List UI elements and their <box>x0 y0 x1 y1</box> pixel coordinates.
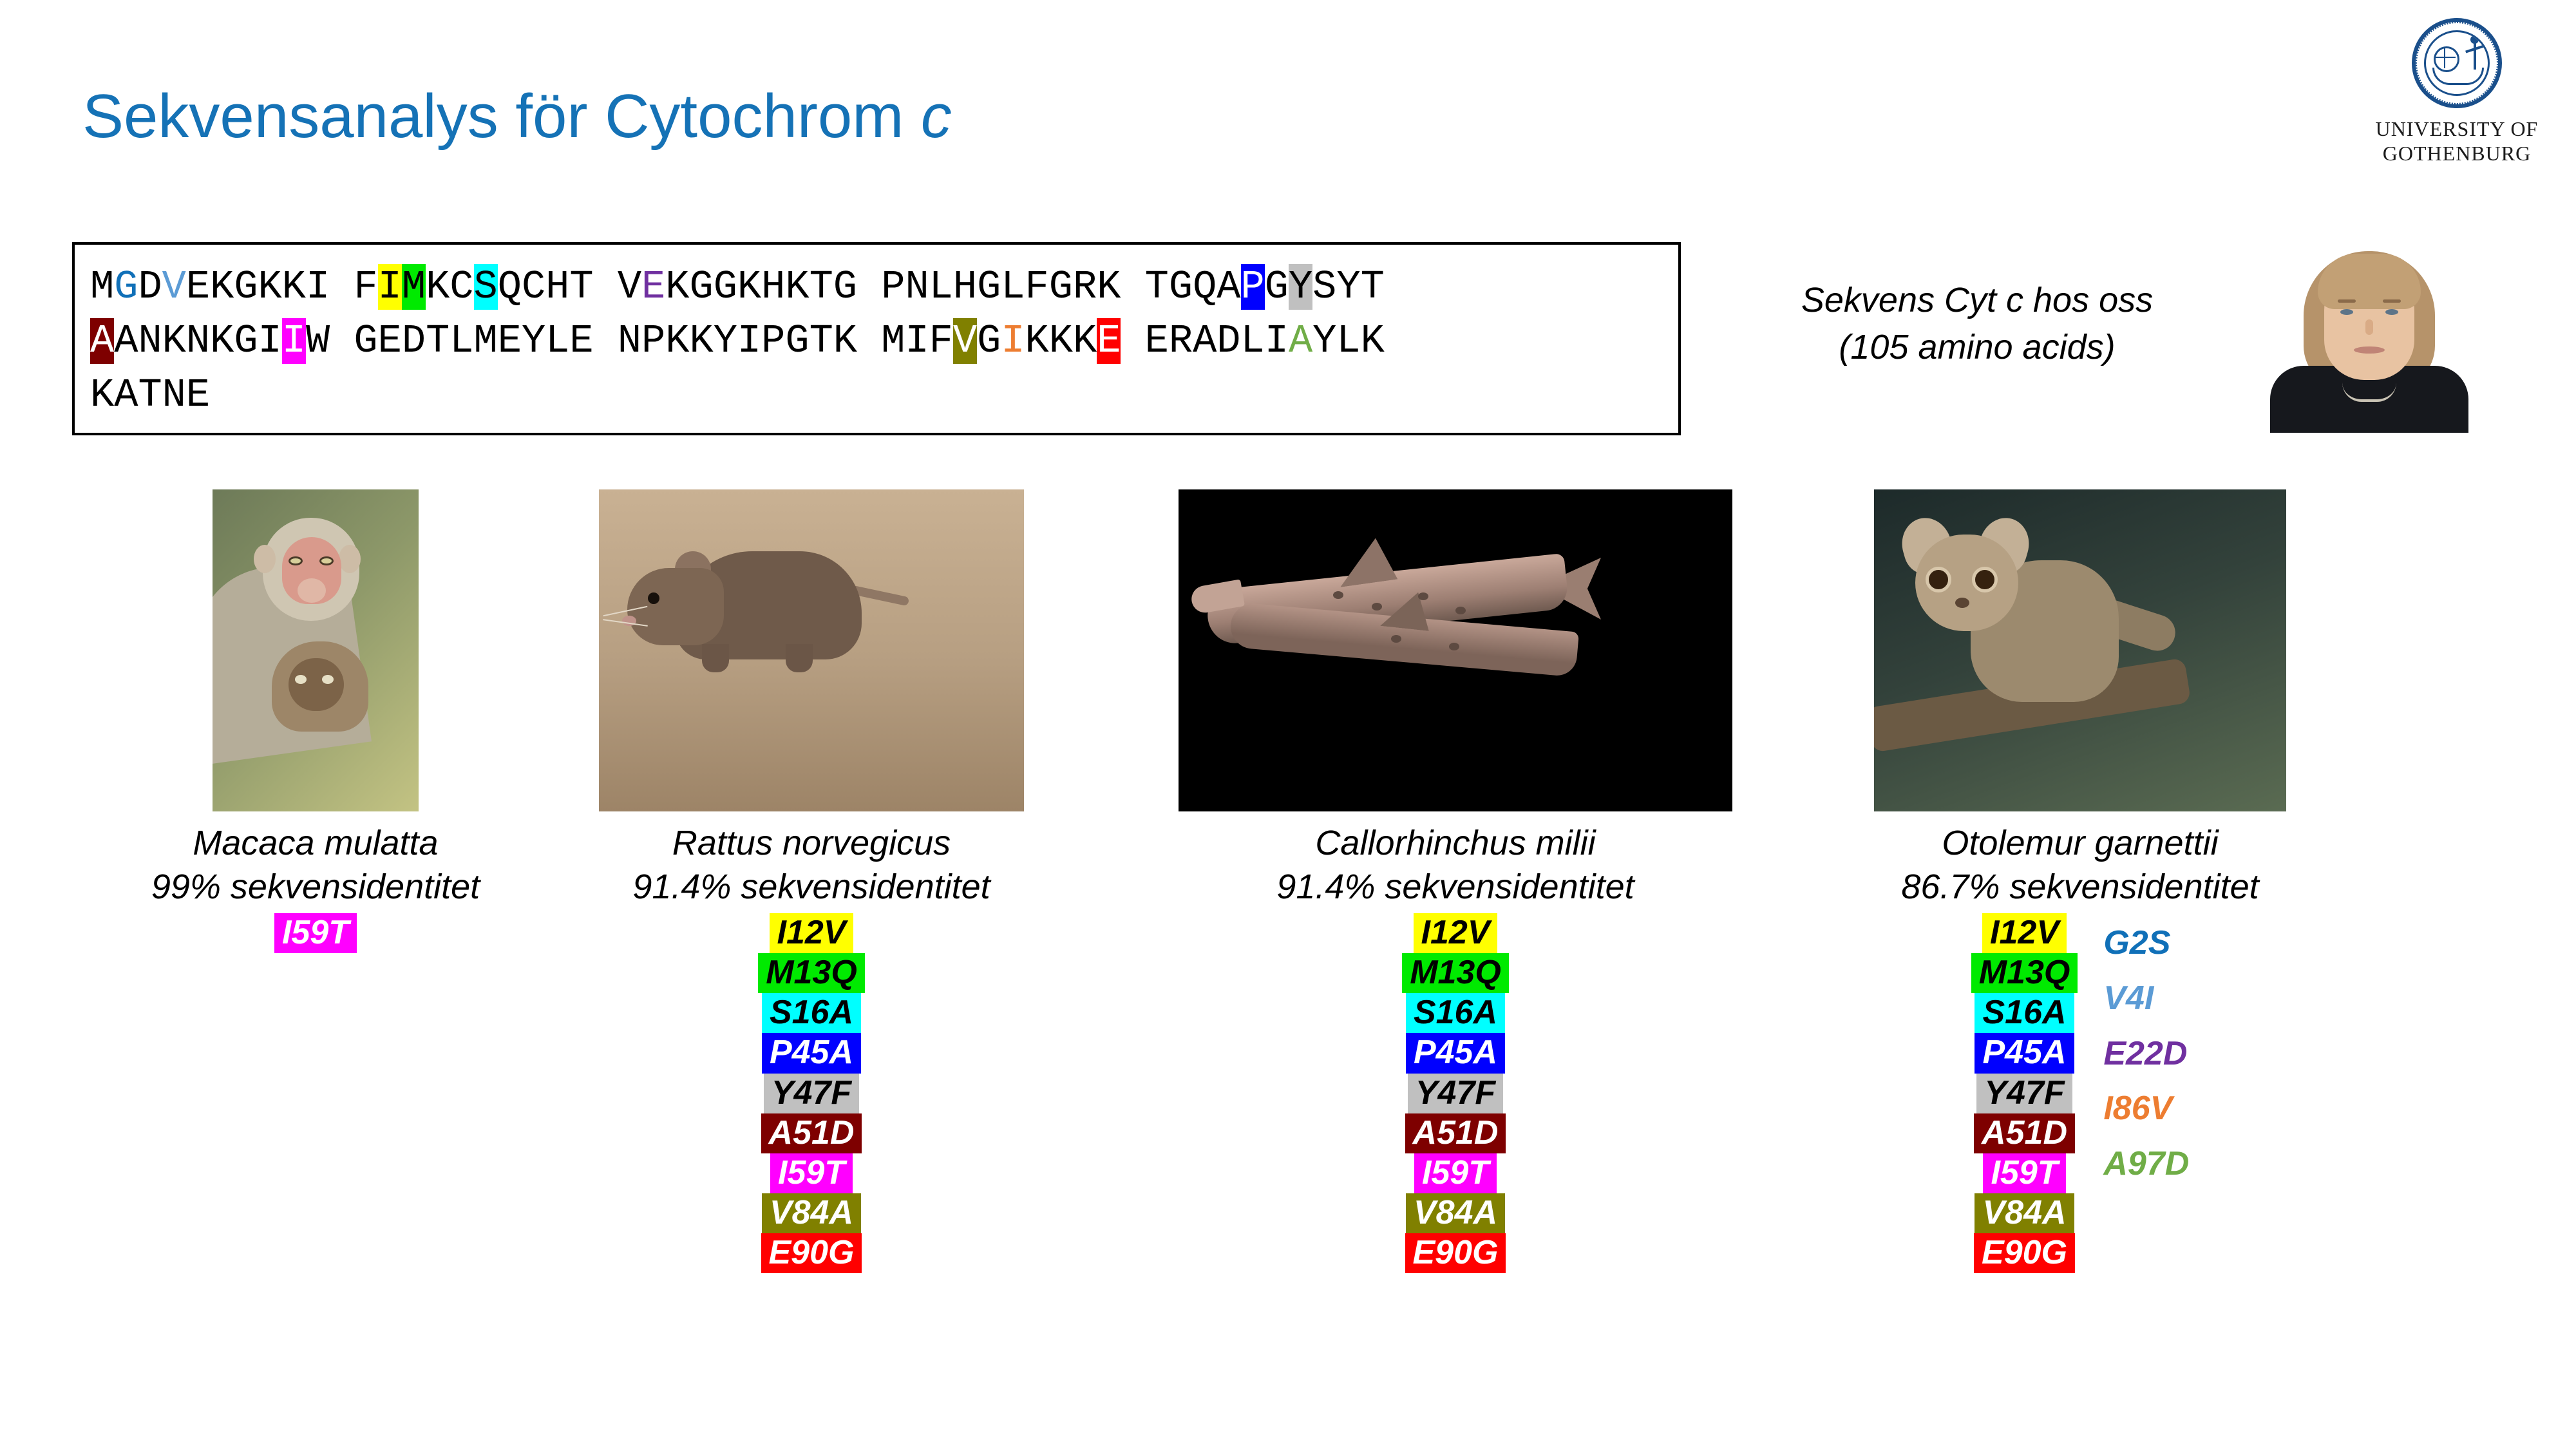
residue-101: K <box>90 372 114 418</box>
species-identity: 91.4% sekvensidentitet <box>567 867 1056 907</box>
rat-leg-front <box>702 644 729 672</box>
macaque-infant-eye-left <box>295 675 307 684</box>
shark-spot <box>1449 643 1459 650</box>
mutation-badge-V84A: V84A <box>762 1193 861 1233</box>
residue-26: K <box>737 264 761 310</box>
elephant-shark-photo <box>1179 489 1732 811</box>
sample-caption-line1: Sekvens Cyt c hos oss <box>1713 277 2241 324</box>
residue-31: P <box>881 264 905 310</box>
residue-39: R <box>1073 264 1097 310</box>
shark-spot <box>1391 635 1401 643</box>
mutation-badge-M13Q: M13Q <box>1971 953 2078 993</box>
shark-spot <box>1372 603 1382 611</box>
residue-105: E <box>186 372 210 418</box>
residue-81: M <box>881 318 905 364</box>
residue-40: K <box>1097 264 1121 310</box>
northern-greater-galago-photo <box>1874 489 2286 811</box>
residue-89: K <box>1073 318 1097 364</box>
residue-59: I <box>282 318 306 364</box>
sample-caption-line2: (105 amino acids) <box>1713 324 2241 371</box>
species-identity: 91.4% sekvensidentitet <box>1179 867 1732 907</box>
residue-46: G <box>1265 264 1289 310</box>
portrait-art <box>2251 240 2488 433</box>
residue-56: K <box>210 318 234 364</box>
residue-16: S <box>474 264 498 310</box>
sequence-gap <box>594 318 618 364</box>
residue-71: N <box>618 318 641 364</box>
sequence-gap <box>857 264 881 310</box>
residue-47: Y <box>1289 264 1312 310</box>
macaque-ear-right <box>339 545 361 573</box>
eye-right <box>2385 309 2398 315</box>
mutation-label-G2S: G2S <box>2103 916 2189 971</box>
mutation-badge-E90G: E90G <box>761 1233 862 1273</box>
brown-rat-photo <box>599 489 1024 811</box>
residue-43: Q <box>1193 264 1217 310</box>
macaque-mother-and-infant-photo <box>213 489 419 811</box>
residue-92: R <box>1169 318 1193 364</box>
residue-7: G <box>234 264 258 310</box>
mutation-label-E22D: E22D <box>2103 1027 2189 1082</box>
residue-18: C <box>522 264 545 310</box>
residue-24: G <box>689 264 713 310</box>
eye-left <box>2340 309 2353 315</box>
residue-90: E <box>1097 318 1121 364</box>
residue-17: Q <box>498 264 522 310</box>
residue-9: K <box>282 264 306 310</box>
page-title: Sekvensanalys för Cytochrom c <box>82 82 952 151</box>
species-name: Otolemur garnettii <box>1790 823 2370 863</box>
plain-mutation-list-otolemur: G2SV4IE22DI86VA97D <box>2103 907 2189 1192</box>
mutation-badge-P45A: P45A <box>1406 1033 1505 1073</box>
residue-87: K <box>1025 318 1049 364</box>
residue-4: V <box>162 264 186 310</box>
species-identity: 99% sekvensidentitet <box>71 867 560 907</box>
mutation-badge-S16A: S16A <box>762 993 861 1033</box>
sequence-gap <box>594 264 618 310</box>
university-wordmark-line2: GOTHENBURG <box>2376 142 2539 166</box>
macaque-muzzle <box>298 578 326 603</box>
galago-nose <box>1955 598 1969 608</box>
residue-66: M <box>474 318 498 364</box>
sequence-gap <box>330 264 354 310</box>
residue-70: E <box>569 318 593 364</box>
residue-55: N <box>186 318 210 364</box>
residue-30: G <box>833 264 857 310</box>
mutation-badge-V84A: V84A <box>1406 1193 1505 1233</box>
mutation-badge-V84A: V84A <box>1975 1193 2074 1233</box>
residue-12: I <box>378 264 402 310</box>
mutation-badge-S16A: S16A <box>1975 993 2074 1033</box>
residue-15: C <box>450 264 473 310</box>
residue-52: A <box>114 318 138 364</box>
figure-icon <box>2474 43 2476 70</box>
residue-27: H <box>761 264 785 310</box>
galago-eye-left <box>1926 567 1951 592</box>
brow-right <box>2383 299 2401 303</box>
residue-98: Y <box>1312 318 1336 364</box>
sequence-line: MGDVEKGKKI FIMKCSQCHT VEKGGKHKTG PNLHGLF… <box>90 260 1678 314</box>
mutation-badge-A51D: A51D <box>761 1113 862 1153</box>
sequence-gap <box>1121 264 1144 310</box>
residue-23: K <box>665 264 689 310</box>
residue-74: K <box>689 318 713 364</box>
residue-20: T <box>569 264 593 310</box>
residue-21: V <box>618 264 641 310</box>
residue-79: T <box>810 318 833 364</box>
sequence-line: KATNE <box>90 368 1678 422</box>
residue-6: K <box>210 264 234 310</box>
mutation-badge-I12V: I12V <box>770 913 854 953</box>
residue-62: E <box>378 318 402 364</box>
residue-5: E <box>186 264 210 310</box>
residue-49: Y <box>1336 264 1360 310</box>
residue-22: E <box>641 264 665 310</box>
residue-33: L <box>929 264 953 310</box>
residue-72: P <box>641 318 665 364</box>
boat-icon <box>2432 68 2484 85</box>
mouth <box>2354 346 2385 354</box>
mutation-badge-P45A: P45A <box>762 1033 861 1073</box>
residue-14: K <box>426 264 450 310</box>
mutation-badge-M13Q: M13Q <box>758 953 865 993</box>
residue-44: A <box>1217 264 1240 310</box>
residue-94: D <box>1217 318 1240 364</box>
mutation-badge-Y47F: Y47F <box>1408 1074 1503 1113</box>
residue-13: M <box>402 264 426 310</box>
nose <box>2365 319 2373 335</box>
university-wordmark-line1: UNIVERSITY OF <box>2376 117 2539 142</box>
species-name: Callorhinchus milii <box>1179 823 1732 863</box>
species-identity: 86.7% sekvensidentitet <box>1790 867 2370 907</box>
residue-37: F <box>1025 264 1049 310</box>
residue-11: F <box>354 264 377 310</box>
protein-sequence-text: MGDVEKGKKI FIMKCSQCHT VEKGGKHKTG PNLHGLF… <box>75 245 1678 422</box>
page-title-italic: c <box>921 82 952 151</box>
residue-99: L <box>1336 318 1360 364</box>
residue-32: N <box>905 264 929 310</box>
residue-51: A <box>90 318 114 364</box>
residue-1: M <box>90 264 114 310</box>
seal-inner <box>2424 30 2490 96</box>
species-card-rattus-norvegicus: Rattus norvegicus 91.4% sekvensidentitet… <box>567 489 1056 1273</box>
mutation-badge-A51D: A51D <box>1974 1113 2075 1153</box>
residue-78: G <box>785 318 809 364</box>
residue-19: H <box>545 264 569 310</box>
mutation-badge-I59T: I59T <box>770 1153 853 1193</box>
species-name: Rattus norvegicus <box>567 823 1056 863</box>
sequence-gap <box>857 318 881 364</box>
sequence-gap <box>1121 318 1144 364</box>
mutation-list-macaca: I59T <box>71 913 560 953</box>
residue-57: G <box>234 318 258 364</box>
sequence-panel: MGDVEKGKKI FIMKCSQCHT VEKGGKHKTG PNLHGLF… <box>72 242 1681 435</box>
mutation-badge-E90G: E90G <box>1974 1233 2075 1273</box>
residue-95: L <box>1241 318 1265 364</box>
species-card-otolemur-garnettii: Otolemur garnettii 86.7% sekvensidentite… <box>1790 489 2370 1273</box>
galago-eye-right <box>1972 567 1998 592</box>
sequence-gap <box>330 318 354 364</box>
species-card-callorhinchus-milii: Callorhinchus milii 91.4% sekvensidentit… <box>1179 489 1732 1273</box>
residue-75: Y <box>714 318 737 364</box>
residue-103: T <box>138 372 162 418</box>
university-seal-icon <box>2412 18 2502 108</box>
residue-58: I <box>258 318 282 364</box>
residue-45: P <box>1241 264 1265 310</box>
mutation-badge-M13Q: M13Q <box>1402 953 1509 993</box>
rat-leg-back <box>786 644 813 672</box>
university-logo: UNIVERSITY OF GOTHENBURG <box>2351 18 2563 179</box>
mutation-badge-I59T: I59T <box>274 913 357 953</box>
residue-69: L <box>545 318 569 364</box>
shark-spot <box>1333 591 1343 599</box>
residue-28: K <box>785 264 809 310</box>
shark-spot <box>1455 607 1466 614</box>
residue-50: T <box>1361 264 1385 310</box>
residue-97: A <box>1289 318 1312 364</box>
mutation-badge-I12V: I12V <box>1982 913 2067 953</box>
mutation-badge-Y47F: Y47F <box>764 1074 859 1113</box>
residue-2: G <box>114 264 138 310</box>
residue-63: D <box>402 318 426 364</box>
residue-67: E <box>498 318 522 364</box>
rat-eye <box>648 592 659 604</box>
residue-91: E <box>1145 318 1169 364</box>
mutation-badge-I59T: I59T <box>1414 1153 1497 1193</box>
mutation-list-otolemur: I12VM13QS16AP45AY47FA51DI59TV84AE90G <box>1971 913 2078 1273</box>
mutation-label-I86V: I86V <box>2103 1081 2189 1137</box>
human-portrait-photo <box>2251 240 2488 433</box>
macaque-eye-right <box>319 556 334 565</box>
mutation-label-V4I: V4I <box>2103 971 2189 1027</box>
residue-64: T <box>426 318 450 364</box>
residue-88: K <box>1049 318 1073 364</box>
residue-25: G <box>714 264 737 310</box>
residue-38: G <box>1049 264 1073 310</box>
residue-80: K <box>833 318 857 364</box>
shark-spot <box>1418 592 1428 600</box>
species-name: Macaca mulatta <box>71 823 560 863</box>
residue-54: K <box>162 318 186 364</box>
residue-41: T <box>1145 264 1169 310</box>
mutation-list-rattus: I12VM13QS16AP45AY47FA51DI59TV84AE90G <box>567 913 1056 1273</box>
university-wordmark: UNIVERSITY OF GOTHENBURG <box>2376 117 2539 166</box>
residue-65: L <box>450 318 473 364</box>
mutation-badge-E90G: E90G <box>1405 1233 1506 1273</box>
species-card-macaca-mulatta: Macaca mulatta 99% sekvensidentitet I59T <box>71 489 560 953</box>
mutation-badge-Y47F: Y47F <box>1976 1074 2072 1113</box>
residue-3: D <box>138 264 162 310</box>
residue-36: L <box>1001 264 1025 310</box>
residue-60: W <box>306 318 330 364</box>
residue-42: G <box>1169 264 1193 310</box>
residue-85: G <box>977 318 1001 364</box>
sample-caption: Sekvens Cyt c hos oss (105 amino acids) <box>1713 277 2241 371</box>
sequence-line: AANKNKGIIW GEDTLMEYLE NPKKYIPGTK MIFVGIK… <box>90 314 1678 368</box>
residue-34: H <box>953 264 977 310</box>
residue-35: G <box>977 264 1001 310</box>
mutation-badge-I12V: I12V <box>1414 913 1498 953</box>
brow-left <box>2338 299 2356 303</box>
residue-10: I <box>306 264 330 310</box>
page-title-main: Sekvensanalys för Cytochrom <box>82 82 921 151</box>
residue-100: K <box>1361 318 1385 364</box>
residue-76: I <box>737 318 761 364</box>
mutation-list-callorhinchus: I12VM13QS16AP45AY47FA51DI59TV84AE90G <box>1179 913 1732 1273</box>
residue-77: P <box>761 318 785 364</box>
residue-68: Y <box>522 318 545 364</box>
residue-104: N <box>162 372 186 418</box>
hair-top <box>2318 254 2421 309</box>
residue-29: T <box>810 264 833 310</box>
mutation-badge-I59T: I59T <box>1983 1153 2065 1193</box>
mutation-badge-P45A: P45A <box>1975 1033 2074 1073</box>
residue-61: G <box>354 318 377 364</box>
residue-84: V <box>953 318 977 364</box>
residue-93: A <box>1193 318 1217 364</box>
mutation-badge-S16A: S16A <box>1406 993 1505 1033</box>
residue-53: N <box>138 318 162 364</box>
residue-82: I <box>905 318 929 364</box>
macaque-infant-eye-right <box>322 675 334 684</box>
macaque-infant-face <box>289 658 344 711</box>
macaque-eye-left <box>289 556 303 565</box>
residue-73: K <box>665 318 689 364</box>
mutation-label-A97D: A97D <box>2103 1137 2189 1192</box>
residue-102: A <box>114 372 138 418</box>
residue-86: I <box>1001 318 1025 364</box>
macaque-ear-left <box>254 545 276 573</box>
residue-8: K <box>258 264 282 310</box>
slide-canvas: Sekvensanalys för Cytochrom c UNIVERSITY… <box>0 0 2576 1449</box>
mutation-badge-A51D: A51D <box>1405 1113 1506 1153</box>
residue-48: S <box>1312 264 1336 310</box>
residue-96: I <box>1265 318 1289 364</box>
residue-83: F <box>929 318 953 364</box>
